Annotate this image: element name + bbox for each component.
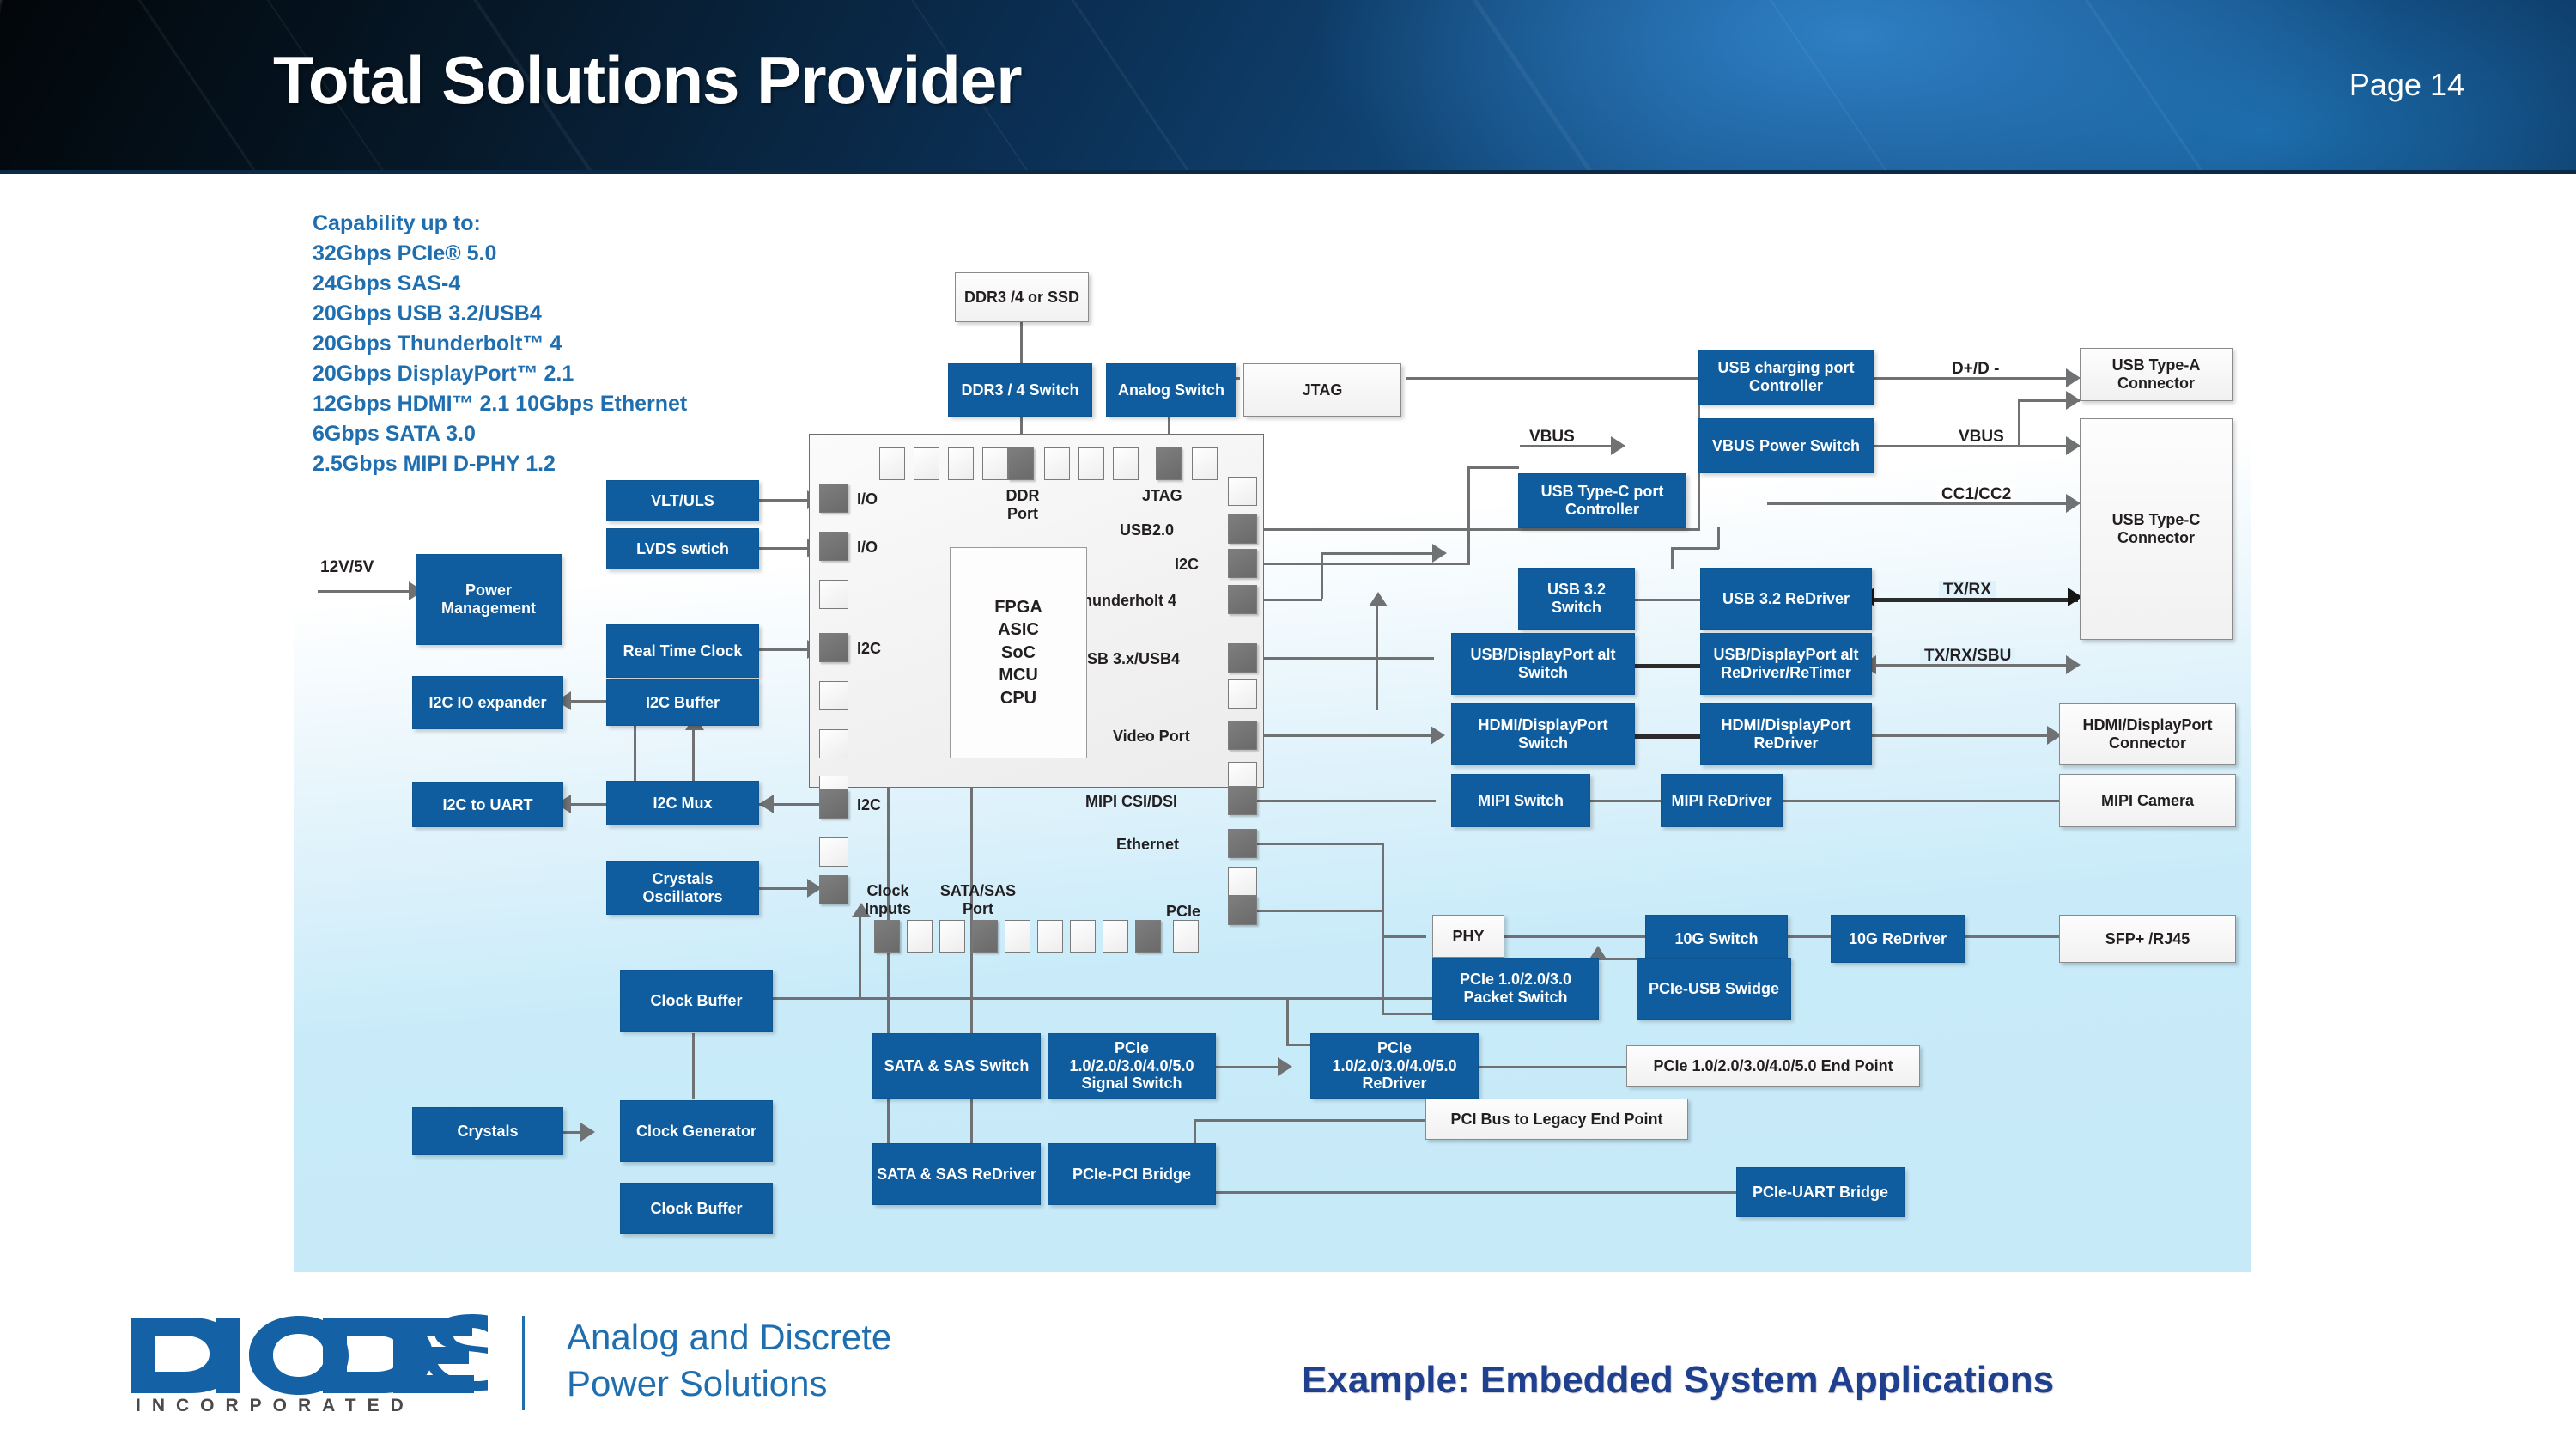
arrow-vbus-in <box>1611 436 1625 455</box>
capability-line: Capability up to: <box>313 209 687 239</box>
node-usb-dp-alt-redriver[interactable]: USB/DisplayPort alt ReDriver/ReTimer <box>1700 633 1872 695</box>
core-line: SoC <box>1001 642 1036 664</box>
node-pcie-redriver[interactable]: PCIe 1.0/2.0/3.0/4.0/5.0 ReDriver <box>1310 1033 1479 1099</box>
wire-packetsw-to-swidge <box>1599 958 1637 960</box>
node-usb-type-a-connector[interactable]: USB Type-A Connector <box>2080 348 2233 401</box>
wire-i2c-right <box>1257 563 1470 565</box>
footer-caption: Example: Embedded System Applications <box>1302 1359 2054 1402</box>
diodes-wordmark-icon <box>127 1312 488 1398</box>
tagline-line-2: Power Solutions <box>567 1361 891 1407</box>
wire-to-uart-bridge <box>1194 1191 1741 1194</box>
capability-list: Capability up to: 32Gbps PCIe® 5.0 24Gbp… <box>313 209 687 479</box>
page-title: Total Solutions Provider <box>273 41 1022 119</box>
chip-label-i2c-1: I2C <box>857 640 881 658</box>
header-streak <box>1013 0 1255 174</box>
header-streak <box>1391 0 1654 174</box>
wire-ddr-ssd-to-switch <box>1020 320 1023 363</box>
chip-label-video: Video Port <box>1113 728 1190 746</box>
node-usb-type-c-port-controller[interactable]: USB Type-C port Controller <box>1518 473 1686 528</box>
capability-line: 12Gbps HDMI™ 2.1 10Gbps Ethernet <box>313 389 687 419</box>
chip-pin-top <box>1113 447 1139 480</box>
node-ddr3-ssd[interactable]: DDR3 /4 or SSD <box>955 272 1089 322</box>
chip-pin-bottom <box>1173 920 1199 953</box>
chip-label-pcie: PCIe <box>1166 903 1200 921</box>
chip-pin-i2c2 <box>819 789 848 819</box>
node-jtag-box[interactable]: JTAG <box>1243 363 1401 417</box>
label-vbus-in: VBUS <box>1525 429 1579 445</box>
node-crystals[interactable]: Crystals <box>412 1107 563 1155</box>
wire-typec-ctrl-stub <box>1671 547 1674 569</box>
slide-footer: INCORPORATED Analog and Discrete Power S… <box>0 1288 2576 1449</box>
node-10g-switch[interactable]: 10G Switch <box>1645 915 1788 963</box>
wire-to-legacy-box <box>1194 1119 1425 1122</box>
wire-usb3x-out <box>1257 657 1377 660</box>
node-clock-buffer-main[interactable]: Clock Buffer <box>620 970 773 1032</box>
wire-vbus-split-up <box>2018 399 2020 447</box>
node-pcie-pci-bridge[interactable]: PCIe-PCI Bridge <box>1048 1143 1216 1205</box>
wire-typec-ctrl-down <box>1717 527 1720 549</box>
chip-pin-bottom <box>1037 920 1063 953</box>
chip-pin-io2 <box>819 532 848 561</box>
label-dpdm: D+/D - <box>1947 361 2003 377</box>
chip-pin-top <box>1044 447 1070 480</box>
wire-typec-ctrl-to-usb32 <box>1673 547 1719 550</box>
node-ddr3-switch[interactable]: DDR3 / 4 Switch <box>948 363 1092 417</box>
wire-power-in <box>318 590 414 593</box>
chip-pin-bottom <box>1005 920 1030 953</box>
wire-mipi-out <box>1257 800 1436 802</box>
node-crystals-oscillators[interactable]: Crystals Oscillators <box>606 861 759 915</box>
chip-pin-bottom <box>1103 920 1128 953</box>
arrow-cc1cc2 <box>2066 494 2081 513</box>
chip-label-ddr-port: DDRPort <box>996 487 1049 522</box>
node-hdmi-dp-switch[interactable]: HDMI/DisplayPort Switch <box>1451 703 1635 765</box>
tagline-line-1: Analog and Discrete <box>567 1314 891 1361</box>
wire-ethernet-out <box>1257 843 1384 845</box>
chip-pin-top <box>1192 447 1218 480</box>
node-usb32-redriver[interactable]: USB 3.2 ReDriver <box>1700 568 1872 630</box>
node-phy[interactable]: PHY <box>1432 915 1504 958</box>
wire-clockbuf-to-right <box>1286 997 1289 1045</box>
arrow-vbus-out <box>2066 436 2081 455</box>
chip-pin-right <box>1228 867 1257 896</box>
wire-hdmi-to-connector <box>1872 734 2059 737</box>
capability-line: 20Gbps DisplayPort™ 2.1 <box>313 359 687 389</box>
capability-line: 24Gbps SAS-4 <box>313 269 687 299</box>
chip-pin-top <box>879 447 905 480</box>
node-sata-sas-switch[interactable]: SATA & SAS Switch <box>872 1033 1041 1099</box>
node-usb32-switch[interactable]: USB 3.2 Switch <box>1518 568 1635 630</box>
node-pcie-signal-switch[interactable]: PCIe 1.0/2.0/3.0/4.0/5.0 Signal Switch <box>1048 1033 1216 1099</box>
node-usb-type-c-connector[interactable]: USB Type-C Connector <box>2080 418 2233 640</box>
node-mipi-switch[interactable]: MIPI Switch <box>1451 774 1590 827</box>
chip-label-usb3x: USB 3.x/USB4 <box>1076 650 1180 668</box>
core-line: FPGA <box>994 596 1042 618</box>
node-i2c-mux[interactable]: I2C Mux <box>606 781 759 825</box>
wire-usb3x-up <box>1376 604 1378 657</box>
chip-pin-right <box>1228 679 1257 709</box>
chip-pin-tb4 <box>1228 585 1257 614</box>
chip-label-mipi: MIPI CSI/DSI <box>1085 793 1177 811</box>
chip-pin-satasas <box>972 920 998 953</box>
node-mipi-redriver[interactable]: MIPI ReDriver <box>1661 774 1783 827</box>
footer-divider <box>522 1316 525 1410</box>
wire-pcie-to-packetsw <box>1382 1013 1437 1015</box>
wire-clockbuf-trunk <box>757 997 1288 1000</box>
node-hdmi-dp-redriver[interactable]: HDMI/DisplayPort ReDriver <box>1700 703 1872 765</box>
arrow-crystals <box>580 1123 595 1142</box>
wire-mipi-sw-to-redriver <box>1590 800 1661 802</box>
chip-pin-ddr <box>1008 447 1034 480</box>
chip-pin-right <box>1228 477 1257 506</box>
chip-label-i2c-2: I2C <box>857 796 881 814</box>
wire-tb4-to-usb32sw <box>1321 552 1434 555</box>
chip-label-i2c-r: I2C <box>1175 556 1199 574</box>
node-vlt-uls[interactable]: VLT/ULS <box>606 480 759 521</box>
node-i2c-io-expander[interactable]: I2C IO expander <box>412 676 563 729</box>
chip-pin-pcie <box>1228 896 1257 925</box>
wire-usb20-out <box>1257 528 1700 531</box>
wire-clock-to-chip <box>859 915 861 999</box>
chip-pin-clockin <box>874 920 900 953</box>
arrow-vbus-typea <box>2066 391 2081 410</box>
chip-pin-top <box>914 447 939 480</box>
chip-label-jtag: JTAG <box>1142 487 1182 505</box>
chip-pin-io1 <box>819 484 848 513</box>
arrow-i2cmux-left <box>759 795 774 813</box>
node-sata-sas-redriver[interactable]: SATA & SAS ReDriver <box>872 1143 1041 1205</box>
node-usb-charging-port-controller[interactable]: USB charging port Controller <box>1698 350 1874 405</box>
diodes-logo: INCORPORATED <box>127 1312 496 1416</box>
label-cc1cc2: CC1/CC2 <box>1937 486 2015 502</box>
node-clock-generator[interactable]: Clock Generator <box>620 1100 773 1162</box>
chip-pin-jtag <box>1156 447 1182 480</box>
wire-10g-to-sfp <box>1961 935 2064 938</box>
logo-subtext: INCORPORATED <box>136 1396 415 1416</box>
chip-label-clock-inputs: ClockInputs <box>852 882 924 917</box>
node-mipi-camera[interactable]: MIPI Camera <box>2059 774 2236 827</box>
node-sfp-rj45[interactable]: SFP+ /RJ45 <box>2059 915 2236 963</box>
label-vbus-out: VBUS <box>1954 429 2008 445</box>
node-i2c-buffer[interactable]: I2C Buffer <box>606 679 759 726</box>
chip-pin-clk <box>819 875 848 904</box>
wire-pcie-out <box>1257 910 1384 912</box>
node-pcie-uart-bridge[interactable]: PCIe-UART Bridge <box>1736 1167 1905 1217</box>
label-12v5v: 12V/5V <box>316 559 378 575</box>
capability-line: 20Gbps USB 3.2/USB4 <box>313 299 687 329</box>
arrow-txrxsbu-right <box>2066 655 2081 674</box>
chip-pin-usb20 <box>1228 514 1257 544</box>
wire-i2c-to-typec-ctrl <box>1467 466 1519 469</box>
wire-tb4-up <box>1321 552 1323 599</box>
node-hdmi-dp-connector[interactable]: HDMI/DisplayPort Connector <box>2059 703 2236 765</box>
block-diagram: Capability up to: 32Gbps PCIe® 5.0 24Gbp… <box>0 174 2576 1288</box>
arrow-pcie-redriver <box>1278 1057 1292 1076</box>
footer-tagline: Analog and Discrete Power Solutions <box>567 1314 891 1407</box>
chip-pin-left <box>819 580 848 609</box>
capability-line: 6Gbps SATA 3.0 <box>313 419 687 449</box>
wire-usb3x-down <box>1376 657 1378 710</box>
node-i2c-to-uart[interactable]: I2C to UART <box>412 782 563 827</box>
node-power-management[interactable]: Power Management <box>416 554 562 645</box>
arrow-usb3x-up <box>1369 592 1388 606</box>
wire-cc1cc2 <box>1767 502 2078 505</box>
node-clock-buffer[interactable]: Clock Buffer <box>620 1183 773 1234</box>
arrow-charging-typea <box>2066 368 2081 387</box>
node-pcie-end-point[interactable]: PCIe 1.0/2.0/3.0/4.0/5.0 End Point <box>1626 1045 1920 1087</box>
core-line: CPU <box>1000 687 1036 709</box>
chip-pin-ethernet <box>1228 829 1257 858</box>
chip-pin-bottom <box>907 920 933 953</box>
label-txrxsbu: TX/RX/SBU <box>1920 648 2015 664</box>
arrow-to-hdmi-switch <box>1431 726 1445 745</box>
core-line: MCU <box>999 664 1038 686</box>
wire-pcieredriver-to-endpoint <box>1479 1066 1626 1068</box>
chip-pin-top <box>982 447 1008 480</box>
chip-pin-left <box>819 729 848 758</box>
chip-pin-mipi <box>1228 786 1257 815</box>
chip-pin-left <box>819 681 848 710</box>
chip-pin-bottom <box>1070 920 1096 953</box>
node-lvds-switch[interactable]: LVDS swtich <box>606 528 759 569</box>
node-usb-dp-alt-switch[interactable]: USB/DisplayPort alt Switch <box>1451 633 1635 695</box>
chip-pin-pcie-bot <box>1135 920 1161 953</box>
chip-pin-video <box>1228 721 1257 750</box>
chip-label-ethernet: Ethernet <box>1116 836 1179 854</box>
node-vbus-power-switch[interactable]: VBUS Power Switch <box>1698 418 1874 473</box>
capability-line: 20Gbps Thunderbolt™ 4 <box>313 329 687 359</box>
chip-label-io-2: I/O <box>857 539 878 557</box>
chip-label-sata-port: SATA/SASPort <box>929 882 1027 917</box>
header-streak <box>1992 0 2263 174</box>
node-pci-bus-legacy[interactable]: PCI Bus to Legacy End Point <box>1425 1099 1688 1140</box>
arrow-to-usb32-switch <box>1432 544 1447 563</box>
chip-pin-i2c-right <box>1228 549 1257 578</box>
wire-usb3x-to-dpalt <box>1376 657 1434 660</box>
wire-10gsw-to-redriver <box>1788 935 1831 938</box>
slide-header: Total Solutions Provider Page 14 <box>0 0 2576 174</box>
label-txrx: TX/RX <box>1939 581 1996 598</box>
header-streak <box>1700 0 1951 174</box>
page-number: Page 14 <box>2349 67 2464 103</box>
node-pcie-usb-swidge[interactable]: PCIe-USB Swidge <box>1637 958 1791 1020</box>
node-real-time-clock[interactable]: Real Time Clock <box>606 624 759 678</box>
wire-clockbuf-to-gen <box>692 1033 695 1099</box>
chip-pin-bottom <box>939 920 965 953</box>
chip-core: FPGA ASIC SoC MCU CPU <box>950 547 1087 758</box>
chip-pin-left <box>819 837 848 867</box>
wire-pciesw-to-redriver <box>1216 1066 1283 1068</box>
chip-pin-top <box>1078 447 1104 480</box>
wire-videoport-out <box>1257 734 1434 737</box>
wire-jtagbox-right <box>1406 377 1698 380</box>
capability-line: 2.5Gbps MIPI D-PHY 1.2 <box>313 449 687 479</box>
wire-mipi-to-camera <box>1783 800 2059 802</box>
node-10g-redriver[interactable]: 10G ReDriver <box>1831 915 1965 963</box>
chip-pin-i2c1 <box>819 633 848 662</box>
node-analog-switch[interactable]: Analog Switch <box>1106 363 1236 417</box>
wire-tb4-out <box>1257 599 1322 601</box>
chip-pin-usb3x <box>1228 643 1257 673</box>
chip-label-usb20: USB2.0 <box>1120 521 1174 539</box>
wire-i2c-up <box>1467 466 1470 564</box>
chip-label-tb4: Thunderholt 4 <box>1073 592 1176 610</box>
chip-pin-top <box>948 447 974 480</box>
chip-label-io-1: I/O <box>857 490 878 508</box>
capability-line: 32Gbps PCIe® 5.0 <box>313 239 687 269</box>
wire-ethernet-to-phy <box>1382 935 1426 938</box>
core-line: ASIC <box>998 618 1039 641</box>
node-pcie-packet-switch[interactable]: PCIe 1.0/2.0/3.0 Packet Switch <box>1432 958 1599 1020</box>
